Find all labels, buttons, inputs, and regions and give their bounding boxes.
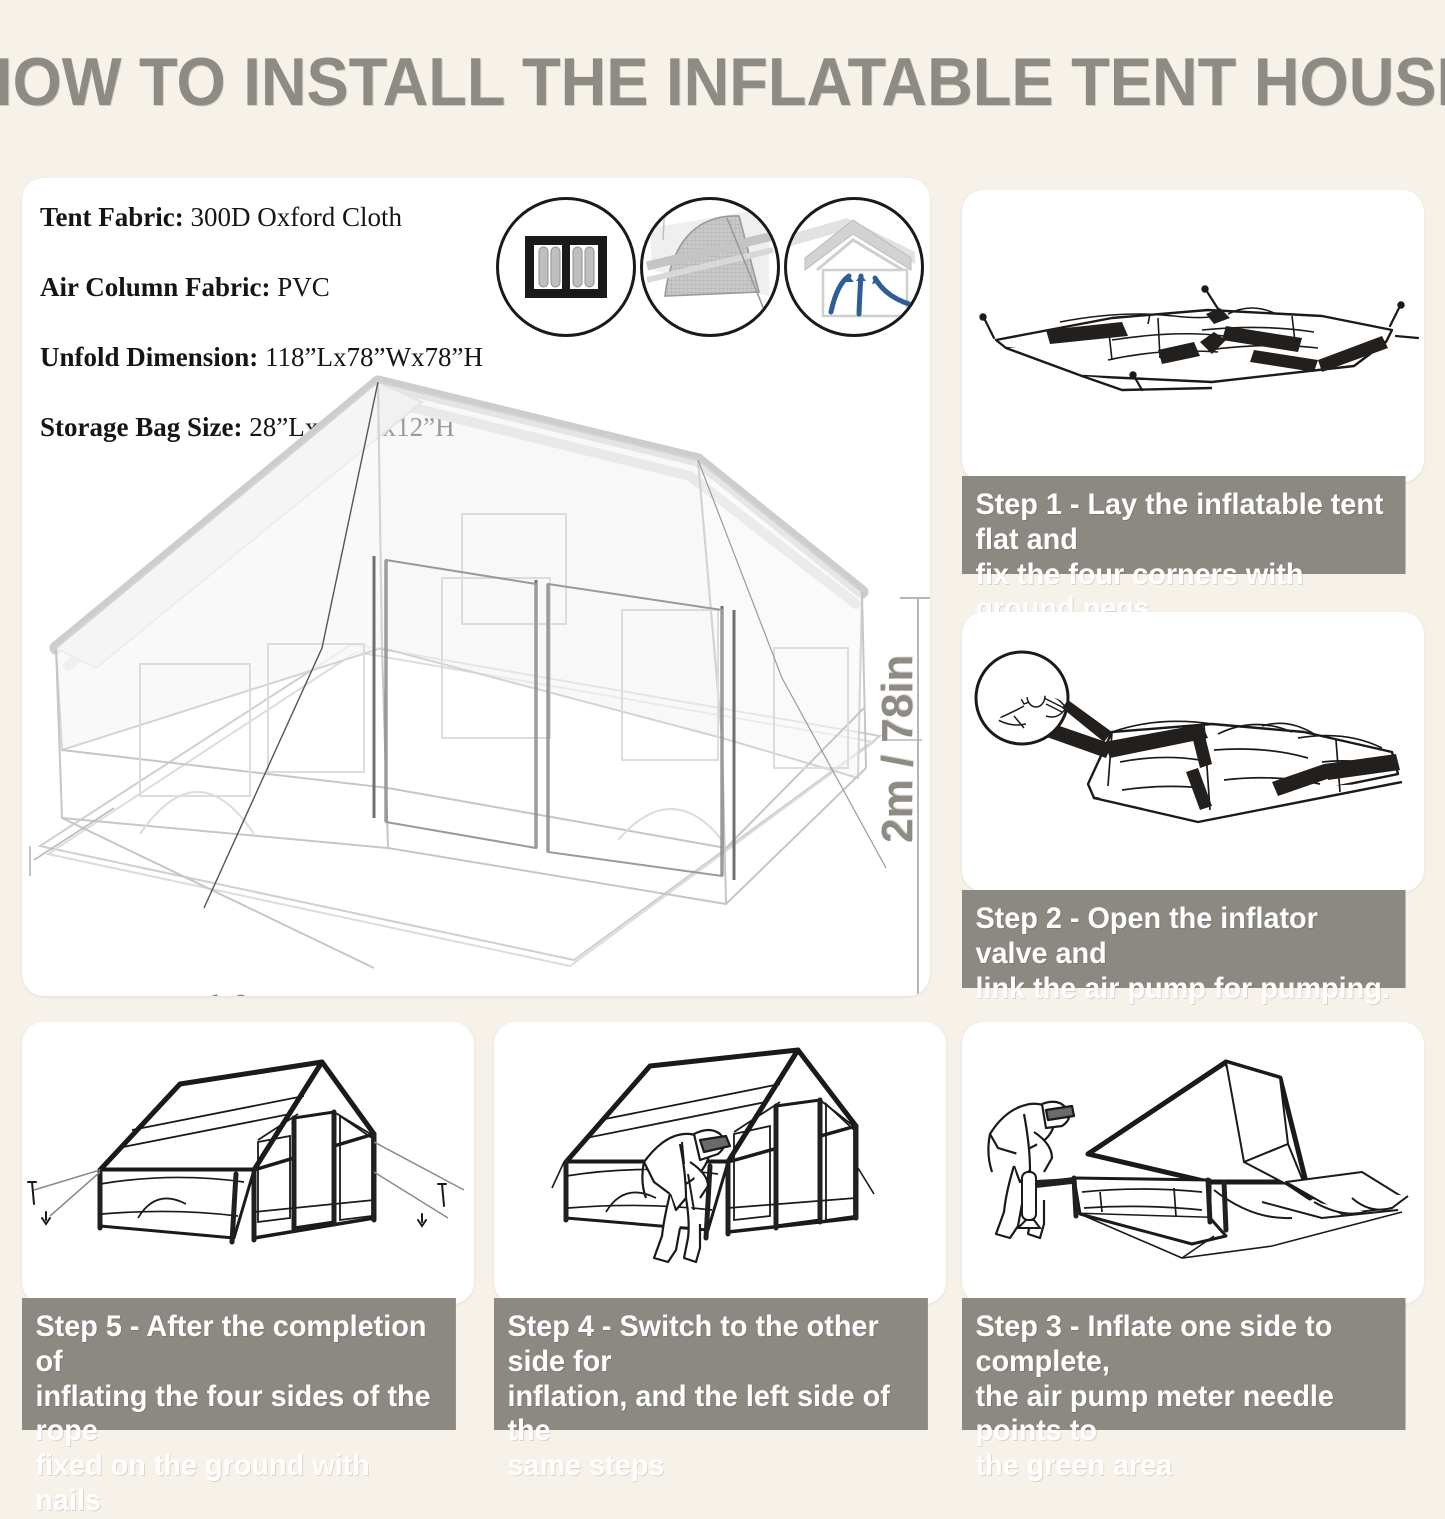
dimension-label-height: 2m / 78in xyxy=(873,655,923,843)
step-4-illustration-card xyxy=(494,1022,946,1304)
step-5-illustration-card xyxy=(22,1022,474,1304)
person-inflating-one-side-illustration xyxy=(962,1022,1424,1304)
step-3-illustration-card xyxy=(962,1022,1424,1304)
tent-valve-air-pump-illustration xyxy=(962,612,1424,892)
caption-line: inflating the four sides of the rope xyxy=(35,1380,442,1450)
erected-tent-with-guy-lines-illustration xyxy=(22,1022,474,1304)
mesh-window-icon xyxy=(640,197,780,337)
inflatable-tent-3d-wireframe xyxy=(22,348,930,996)
caption-line: Step 2 - Open the inflator valve and xyxy=(975,902,1392,972)
step-2-caption: Step 2 - Open the inflator valve and lin… xyxy=(962,890,1406,988)
caption-line: same steps xyxy=(507,1449,914,1484)
specifications-panel: Tent Fabric: 300D Oxford Cloth Air Colum… xyxy=(22,178,930,996)
page-title-text: HOW TO INSTALL THE INFLATABLE TENT HOUSE xyxy=(0,48,1445,116)
step-4-caption: Step 4 - Switch to the other side for in… xyxy=(494,1298,928,1430)
caption-line: link the air pump for pumping. xyxy=(975,972,1392,1007)
caption-line: Step 4 - Switch to the other side for xyxy=(507,1310,914,1380)
step-5-caption: Step 5 - After the completion of inflati… xyxy=(22,1298,456,1430)
caption-line: fixed on the ground with nails xyxy=(35,1449,442,1519)
ventilation-airflow-icon xyxy=(784,197,924,337)
caption-line: the green area xyxy=(975,1449,1392,1484)
spec-label: Tent Fabric: xyxy=(40,202,184,232)
feature-icon-group xyxy=(490,194,920,334)
flat-tent-with-ground-pegs-illustration xyxy=(962,190,1424,482)
step-3-caption: Step 3 - Inflate one side to complete, t… xyxy=(962,1298,1406,1430)
spec-value: 300D Oxford Cloth xyxy=(191,202,403,232)
caption-line: Step 3 - Inflate one side to complete, xyxy=(975,1310,1392,1380)
step-2-illustration-card xyxy=(962,612,1424,892)
step-1-caption: Step 1 - Lay the inflatable tent flat an… xyxy=(962,476,1406,574)
caption-line: inflation, and the left side of the xyxy=(507,1380,914,1450)
person-inflating-other-side-illustration xyxy=(494,1022,946,1304)
spec-value: PVC xyxy=(277,272,330,302)
caption-line: Step 5 - After the completion of xyxy=(35,1310,442,1380)
spec-label: Air Column Fabric: xyxy=(40,272,271,302)
caption-line: the air pump meter needle points to xyxy=(975,1380,1392,1450)
air-column-frame-icon xyxy=(496,197,636,337)
caption-line: Step 1 - Lay the inflatable tent flat an… xyxy=(975,488,1392,558)
step-1-illustration-card xyxy=(962,190,1424,482)
page-title: HOW TO INSTALL THE INFLATABLE TENT HOUSE xyxy=(0,36,1445,128)
